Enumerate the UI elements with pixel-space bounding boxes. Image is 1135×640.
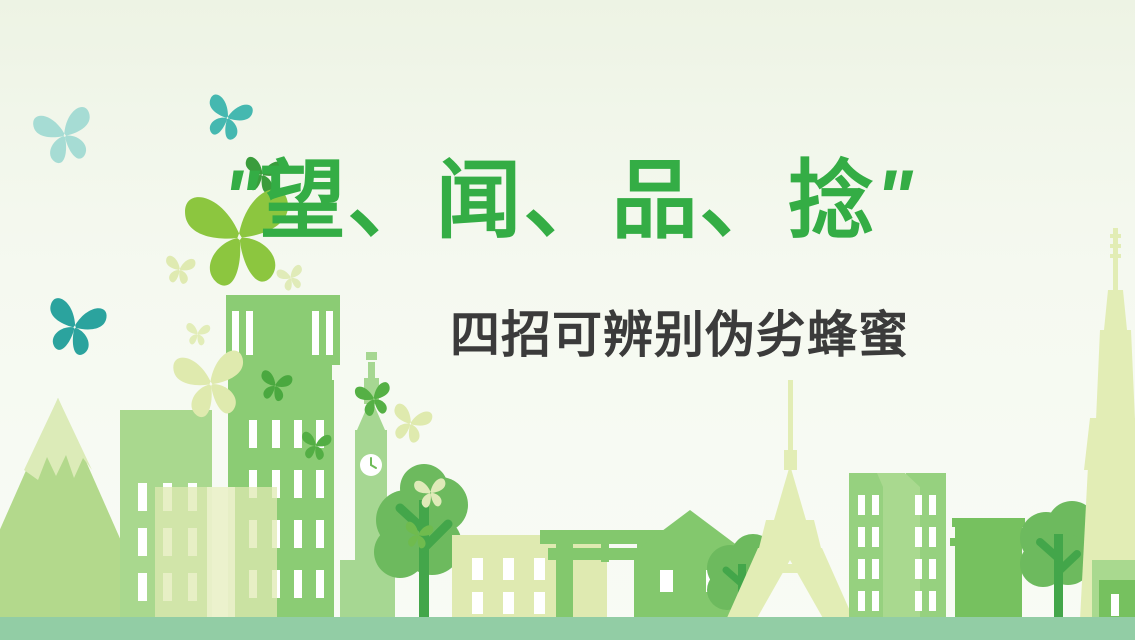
butterfly-pale-mid-tower: [172, 349, 250, 420]
poster-canvas: "望、闻、品、捻" 四招可辨别伪劣蜂蜜: [0, 0, 1135, 640]
butterfly-pale-tiny-a: [163, 255, 196, 285]
butterfly-green-tree: [402, 521, 433, 550]
butterfly-teal-dark-lower: [41, 297, 109, 360]
butterfly-teal-dark-upper: [200, 93, 254, 144]
butterfly-teal-pale-left: [32, 106, 98, 167]
butterfly-decorations: [0, 0, 1135, 640]
butterfly-green-clocktower: [354, 381, 394, 417]
butterfly-pale-clocktower: [387, 402, 434, 445]
butterfly-pale-tiny-c: [185, 323, 211, 346]
butterfly-green-dark-small: [241, 156, 283, 194]
butterfly-pale-tiny-b: [276, 264, 307, 292]
butterfly-green-window: [299, 431, 332, 461]
butterfly-green-on-building: [257, 370, 293, 404]
butterfly-pale-tree-top: [414, 478, 448, 509]
